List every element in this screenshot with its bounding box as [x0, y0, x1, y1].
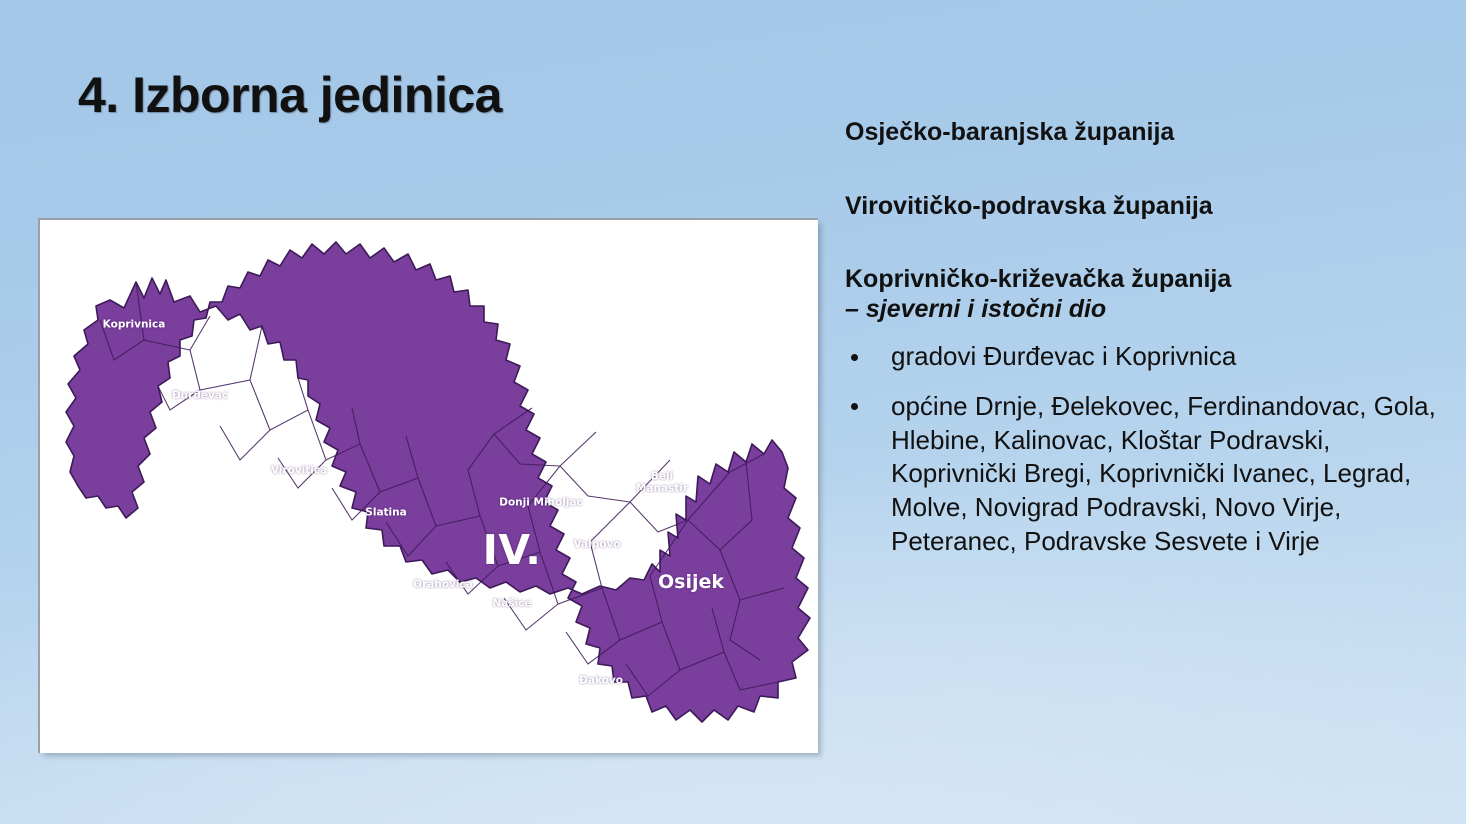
list-item-label: općine Drnje, Đelekovec, Ferdinandovac, … — [891, 391, 1436, 556]
list-item: općine Drnje, Đelekovec, Ferdinandovac, … — [845, 390, 1445, 559]
list-item: gradovi Đurđevac i Koprivnica — [845, 340, 1445, 374]
county-heading-text: Koprivničko-križevačka županija — [845, 265, 1231, 293]
county-heading-viroviticko-podravska: Virovitičko-podravska županija — [845, 192, 1445, 222]
map-figure: Koprivnica Đurđevac Virovitica Slatina D… — [40, 220, 818, 753]
municipality-bullet-list: gradovi Đurđevac i Koprivnica općine Drn… — [845, 340, 1445, 559]
electoral-district-map-image — [40, 220, 818, 753]
county-heading-koprivnicko-krizevacka: Koprivničko-križevačka županija – sjever… — [845, 265, 1445, 324]
county-heading-osjecko-baranjska: Osječko-baranjska županija — [845, 118, 1445, 148]
county-subtitle: – sjeverni i istočni dio — [845, 295, 1445, 325]
page-title: 4. Izborna jedinica — [78, 66, 502, 124]
text-column: Osječko-baranjska županija Virovitičko-p… — [845, 118, 1445, 575]
presentation-slide: 4. Izborna jedinica — [0, 0, 1466, 824]
list-item-label: gradovi Đurđevac i Koprivnica — [891, 341, 1236, 371]
bullet-dot-icon — [851, 403, 858, 410]
bullet-dot-icon — [851, 354, 858, 361]
